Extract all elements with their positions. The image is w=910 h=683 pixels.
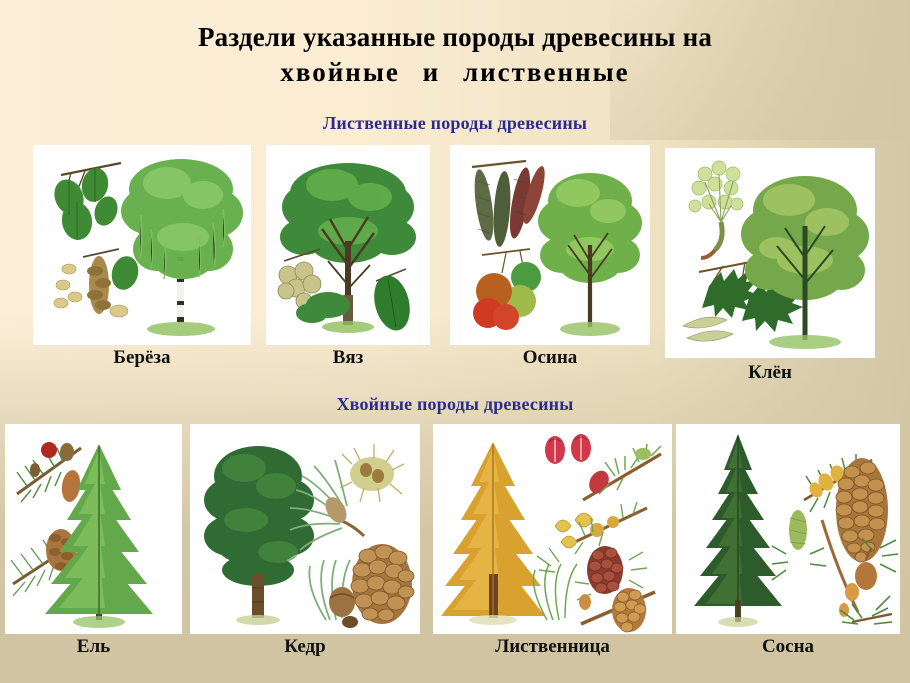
tree-label-maple: Клён — [665, 362, 875, 384]
tree-card-pine[interactable] — [676, 424, 900, 634]
cedar-illustration — [190, 424, 420, 634]
tree-label-larch: Лиственница — [433, 636, 672, 658]
title-line-2: хвойные и лиственные — [55, 55, 855, 90]
tree-label-pine: Сосна — [676, 636, 900, 658]
tree-card-spruce[interactable] — [5, 424, 182, 634]
tree-card-birch[interactable] — [33, 145, 251, 345]
maple-illustration — [665, 148, 875, 358]
tree-card-cedar[interactable] — [190, 424, 420, 634]
tree-card-aspen[interactable] — [450, 145, 650, 345]
pine-illustration — [676, 424, 900, 634]
tree-label-birch: Берёза — [33, 347, 251, 369]
page-title: Раздели указанные породы древесины на хв… — [55, 20, 855, 89]
tree-card-elm[interactable] — [266, 145, 430, 345]
tree-label-elm: Вяз — [266, 347, 430, 369]
birch-illustration — [33, 145, 251, 345]
tree-card-maple[interactable] — [665, 148, 875, 358]
spruce-illustration — [5, 424, 182, 634]
tree-label-spruce: Ель — [5, 636, 182, 658]
tree-card-larch[interactable] — [433, 424, 672, 634]
elm-illustration — [266, 145, 430, 345]
section-heading-deciduous: Лиственные породы древесины — [0, 113, 910, 134]
tree-label-aspen: Осина — [450, 347, 650, 369]
aspen-illustration — [450, 145, 650, 345]
section-heading-conifer: Хвойные породы древесины — [0, 394, 910, 415]
larch-illustration — [433, 424, 672, 634]
title-line-1: Раздели указанные породы древесины на — [198, 22, 712, 52]
slide-root: Раздели указанные породы древесины на хв… — [0, 0, 910, 683]
tree-label-cedar: Кедр — [190, 636, 420, 658]
